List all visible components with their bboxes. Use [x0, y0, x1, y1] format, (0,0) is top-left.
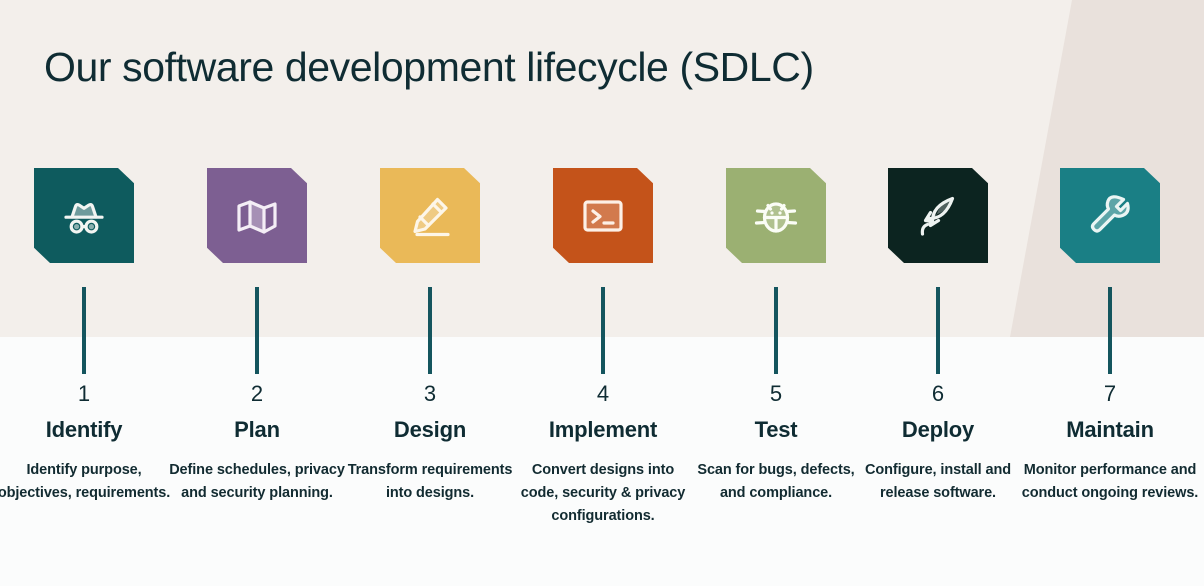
step-name: Plan [171, 418, 343, 442]
step-number: 7 [1024, 383, 1196, 405]
step-name: Identify [0, 418, 170, 442]
step-connector-line [774, 287, 778, 374]
step-connector-line [1108, 287, 1112, 374]
step-name: Test [690, 418, 862, 442]
step-name: Maintain [1024, 418, 1196, 442]
step-description: Define schedules, privacy and security p… [167, 459, 347, 505]
step-description: Monitor performance and conduct ongoing … [1020, 459, 1200, 505]
wrench-icon [1084, 190, 1136, 242]
step-name: Implement [517, 418, 689, 442]
pencil-edit-icon [404, 190, 456, 242]
bug-icon [750, 190, 802, 242]
step-icon-tile-implement [553, 168, 653, 263]
sdlc-step-identify: 1IdentifyIdentify purpose, objectives, r… [0, 0, 170, 586]
step-connector-line [601, 287, 605, 374]
step-name: Design [344, 418, 516, 442]
folded-map-icon [232, 191, 282, 241]
step-connector-line [82, 287, 86, 374]
step-name: Deploy [852, 418, 1024, 442]
step-icon-tile-plan [207, 168, 307, 263]
incognito-hat-icon [58, 190, 110, 242]
step-connector-line [936, 287, 940, 374]
step-description: Identify purpose, objectives, requiremen… [0, 459, 174, 505]
step-number: 1 [0, 383, 170, 405]
sdlc-step-test: 5TestScan for bugs, defects, and complia… [690, 0, 862, 586]
step-icon-tile-design [380, 168, 480, 263]
step-number: 2 [171, 383, 343, 405]
sdlc-step-design: 3DesignTransform requirements into desig… [344, 0, 516, 586]
step-icon-tile-deploy [888, 168, 988, 263]
step-description: Convert designs into code, security & pr… [513, 459, 693, 528]
step-description: Configure, install and release software. [848, 459, 1028, 505]
sdlc-step-deploy: 6DeployConfigure, install and release so… [852, 0, 1024, 586]
step-connector-line [428, 287, 432, 374]
step-number: 3 [344, 383, 516, 405]
step-description: Transform requirements into designs. [340, 459, 520, 505]
sdlc-step-list: 1IdentifyIdentify purpose, objectives, r… [0, 0, 1204, 586]
step-number: 4 [517, 383, 689, 405]
step-description: Scan for bugs, defects, and compliance. [686, 459, 866, 505]
terminal-console-icon [577, 190, 629, 242]
step-icon-tile-maintain [1060, 168, 1160, 263]
step-connector-line [255, 287, 259, 374]
step-icon-tile-test [726, 168, 826, 263]
sdlc-step-implement: 4ImplementConvert designs into code, sec… [517, 0, 689, 586]
rocket-icon [912, 190, 964, 242]
step-number: 5 [690, 383, 862, 405]
step-icon-tile-identify [34, 168, 134, 263]
step-number: 6 [852, 383, 1024, 405]
sdlc-step-maintain: 7MaintainMonitor performance and conduct… [1024, 0, 1196, 586]
sdlc-step-plan: 2PlanDefine schedules, privacy and secur… [171, 0, 343, 586]
